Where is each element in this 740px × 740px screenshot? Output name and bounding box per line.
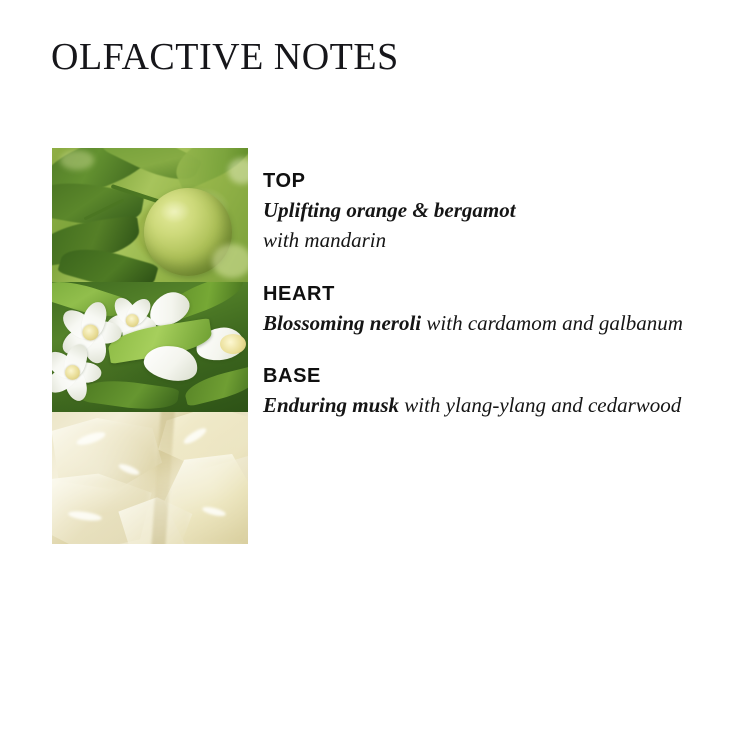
note-label-heart: HEART [263, 281, 683, 308]
olfactive-note-images [52, 148, 248, 544]
musk-resin-crystals-photo [52, 412, 248, 544]
note-description-base: Enduring musk with ylang-ylang and cedar… [263, 391, 683, 421]
page-title: OLFACTIVE NOTES [51, 38, 399, 78]
note-plain-heart: with cardamom and galbanum [421, 311, 683, 335]
note-description-heart: Blossoming neroli with cardamom and galb… [263, 309, 683, 339]
bokeh-highlight [228, 158, 248, 184]
olfactive-notes-list: TOP Uplifting orange & bergamot with man… [263, 168, 683, 421]
note-plain-top: with mandarin [263, 228, 386, 252]
note-description-top: Uplifting orange & bergamot with mandari… [263, 196, 683, 256]
white-neroli-blossom-photo [52, 282, 248, 412]
blossom-flower-icon [52, 341, 103, 404]
bokeh-highlight [60, 150, 94, 170]
note-accent-heart: Blossoming neroli [263, 311, 421, 335]
flower-stamen-icon [82, 324, 98, 340]
note-block-heart: HEART Blossoming neroli with cardamom an… [263, 281, 683, 339]
note-label-top: TOP [263, 168, 683, 195]
olfactive-notes-page: OLFACTIVE NOTES [0, 0, 740, 740]
note-label-base: BASE [263, 363, 683, 390]
note-block-base: BASE Enduring musk with ylang-ylang and … [263, 363, 683, 421]
note-plain-base: with ylang-ylang and cedarwood [399, 393, 681, 417]
note-accent-base: Enduring musk [263, 393, 399, 417]
note-accent-top: Uplifting orange & bergamot [263, 198, 516, 222]
note-block-top: TOP Uplifting orange & bergamot with man… [263, 168, 683, 256]
bokeh-highlight [212, 244, 248, 278]
flower-stamen-icon [220, 334, 246, 354]
flower-stamen-icon [65, 365, 80, 380]
green-citrus-fruit-photo [52, 148, 248, 282]
